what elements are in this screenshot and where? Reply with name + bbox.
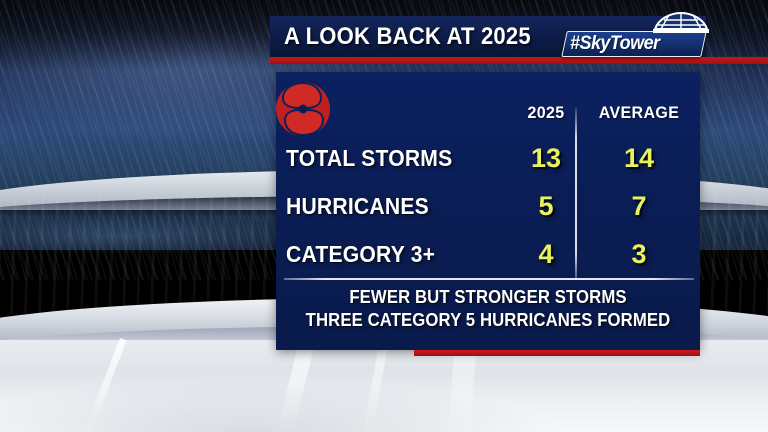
footer-line-1: FEWER BUT STRONGER STORMS xyxy=(291,286,685,309)
table-row: CATEGORY 3+ 4 3 xyxy=(276,231,700,277)
footer-line-2: THREE CATEGORY 5 HURRICANES FORMED xyxy=(291,309,685,332)
row-value-2025: 4 xyxy=(510,231,582,277)
row-value-average: 7 xyxy=(586,183,692,229)
summary-footer: FEWER BUT STRONGER STORMS THREE CATEGORY… xyxy=(276,286,700,332)
row-value-average: 14 xyxy=(586,135,692,181)
hurricane-symbol-icon xyxy=(271,77,335,141)
row-label: HURRICANES xyxy=(286,183,429,229)
column-header-average: AVERAGE xyxy=(589,103,689,123)
panel-accent-bar xyxy=(414,350,700,356)
row-value-2025: 5 xyxy=(510,183,582,229)
row-label: CATEGORY 3+ xyxy=(286,231,435,277)
row-value-average: 3 xyxy=(586,231,692,277)
logo-text: #SkyTower xyxy=(570,33,695,55)
header-accent-bar xyxy=(270,57,768,64)
table-row: HURRICANES 5 7 xyxy=(276,183,700,229)
column-header-2025: 2025 xyxy=(512,103,580,123)
table-row: TOTAL STORMS 13 14 xyxy=(276,135,700,181)
table-bottom-rule xyxy=(284,278,694,280)
row-value-2025: 13 xyxy=(510,135,582,181)
skytower-logo: #SkyTower xyxy=(556,12,704,58)
page-title: A LOOK BACK AT 2025 xyxy=(284,23,531,51)
row-label: TOTAL STORMS xyxy=(286,135,452,181)
screenshot-stage: A LOOK BACK AT 2025 #SkyTower 2025 AVERA… xyxy=(0,0,768,432)
